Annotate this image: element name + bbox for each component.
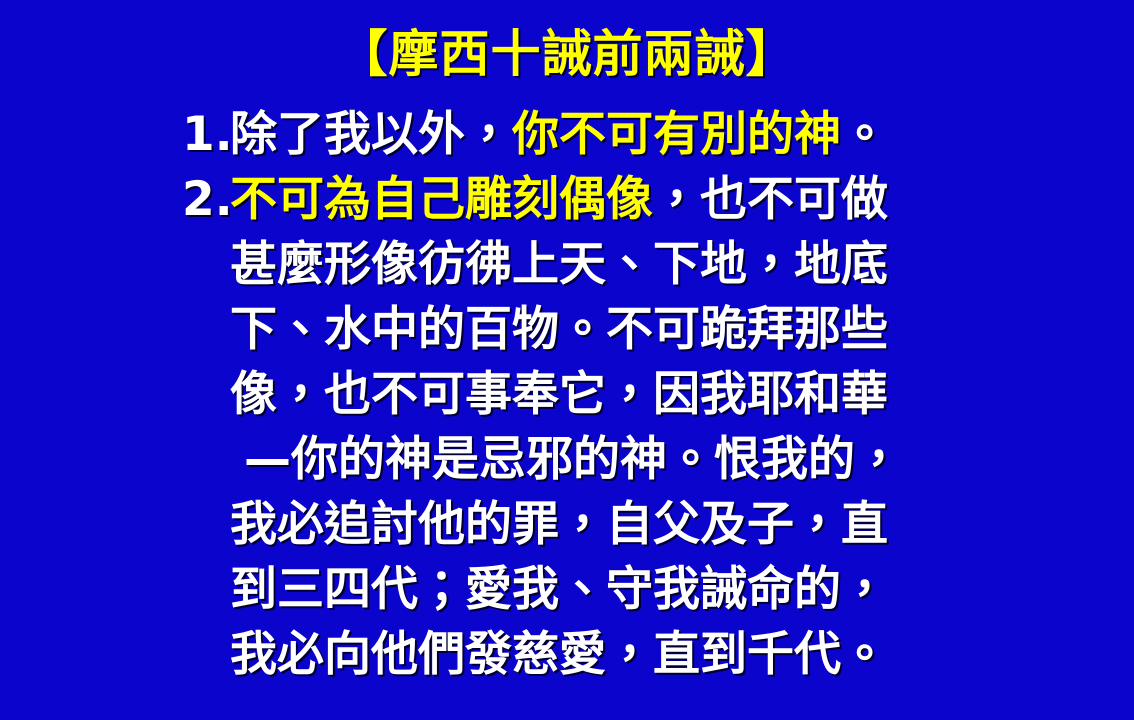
text-segment: 我必追討他的罪，自父及子，直: [230, 497, 888, 552]
text-segment: 下、水中的百物。不可跪拜那些: [230, 302, 888, 357]
line-text: 不可為自己雕刻偶像，也不可做: [230, 169, 942, 231]
text-segment: 。: [841, 107, 888, 162]
line-text: 甚麼形像彷彿上天、下地，地底: [230, 234, 942, 296]
line-marker-spacer: [182, 234, 230, 296]
text-segment: 像，也不可事奉它，因我耶和華: [230, 367, 888, 422]
slide-title: 【摩西十誡前兩誡】: [0, 24, 1134, 84]
line-text: 到三四代；愛我、守我誡命的，: [230, 559, 942, 621]
text-line: 甚麼形像彷彿上天、下地，地底: [182, 234, 942, 299]
line-marker-spacer: [182, 559, 230, 621]
text-line: 1.除了我以外，你不可有別的神。: [182, 104, 942, 169]
highlighted-text-segment: 你不可有別的神: [512, 107, 841, 162]
text-line: 到三四代；愛我、守我誡命的，: [182, 559, 942, 624]
line-marker-spacer: [182, 299, 230, 361]
list-number-marker: 2.: [182, 169, 230, 231]
slide-canvas: 【摩西十誡前兩誡】 1.除了我以外，你不可有別的神。2.不可為自己雕刻偶像，也不…: [0, 0, 1134, 720]
line-marker-spacer: [182, 429, 230, 491]
text-segment: —你的神是忌邪的神。恨我的，: [244, 432, 902, 487]
line-text: 下、水中的百物。不可跪拜那些: [230, 299, 942, 361]
text-line: 像，也不可事奉它，因我耶和華: [182, 364, 942, 429]
line-marker-spacer: [182, 494, 230, 556]
line-text: —你的神是忌邪的神。恨我的，: [230, 429, 942, 491]
text-line: 我必向他們發慈愛，直到千代。: [182, 624, 942, 689]
text-segment: 甚麼形像彷彿上天、下地，地底: [230, 237, 888, 292]
text-segment: 到三四代；愛我、守我誡命的，: [230, 562, 888, 617]
list-number-marker: 1.: [182, 104, 230, 166]
line-text: 我必向他們發慈愛，直到千代。: [230, 624, 942, 686]
text-segment: 除了我以外，: [230, 107, 512, 162]
highlighted-text-segment: 不可為自己雕刻偶像: [230, 172, 653, 227]
text-line: —你的神是忌邪的神。恨我的，: [182, 429, 942, 494]
commandments-body: 1.除了我以外，你不可有別的神。2.不可為自己雕刻偶像，也不可做 甚麼形像彷彿上…: [182, 104, 942, 689]
line-marker-spacer: [182, 364, 230, 426]
text-line: 我必追討他的罪，自父及子，直: [182, 494, 942, 559]
text-line: 2.不可為自己雕刻偶像，也不可做: [182, 169, 942, 234]
line-text: 除了我以外，你不可有別的神。: [230, 104, 942, 166]
text-segment: 我必向他們發慈愛，直到千代。: [230, 627, 888, 682]
line-text: 我必追討他的罪，自父及子，直: [230, 494, 942, 556]
line-marker-spacer: [182, 624, 230, 686]
line-text: 像，也不可事奉它，因我耶和華: [230, 364, 942, 426]
text-segment: ，也不可做: [653, 172, 888, 227]
text-line: 下、水中的百物。不可跪拜那些: [182, 299, 942, 364]
